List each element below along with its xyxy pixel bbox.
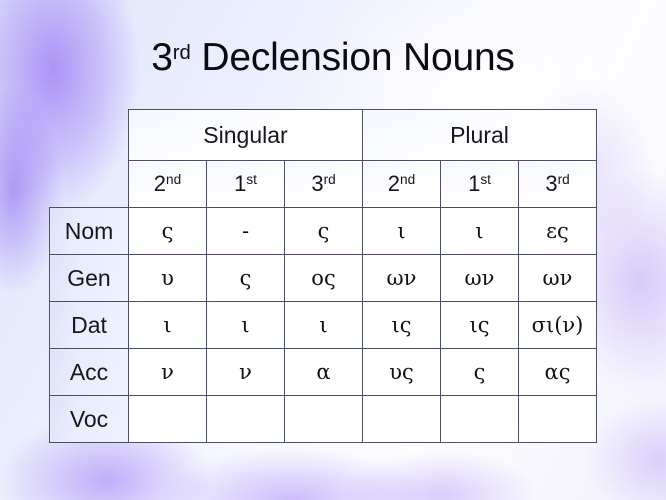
- cell-acc-singular-3rd: α: [285, 349, 363, 396]
- cell-acc-singular-1st: ν: [207, 349, 285, 396]
- cell-voc-singular-3rd: [285, 396, 363, 443]
- cell-gen-singular-3rd: ος: [285, 255, 363, 302]
- row-label-acc: Acc: [50, 349, 129, 396]
- title-text: Declension Nouns: [191, 36, 515, 79]
- col-ord: st: [246, 172, 257, 187]
- column-header-plural-3rd: 3rd: [519, 161, 597, 208]
- title-number: 3: [151, 36, 173, 79]
- col-ord: st: [480, 172, 491, 187]
- table-corner-spacer-2: [50, 161, 129, 208]
- cell-voc-plural-1st: [441, 396, 519, 443]
- table-row-nom: Nom ς - ς ι ι ες: [50, 208, 597, 255]
- table-corner-spacer: [50, 110, 129, 161]
- cell-nom-plural-3rd: ες: [519, 208, 597, 255]
- row-label-nom: Nom: [50, 208, 129, 255]
- cell-nom-singular-1st: -: [207, 208, 285, 255]
- table-column-header-row: 2nd 1st 3rd 2nd 1st 3rd: [50, 161, 597, 208]
- col-num: 3: [311, 171, 323, 196]
- cell-gen-plural-1st: ων: [441, 255, 519, 302]
- col-ord: rd: [558, 172, 570, 187]
- table-row-voc: Voc: [50, 396, 597, 443]
- row-label-gen: Gen: [50, 255, 129, 302]
- cell-dat-singular-2nd: ι: [129, 302, 207, 349]
- column-header-singular-1st: 1st: [207, 161, 285, 208]
- cell-dat-plural-1st: ις: [441, 302, 519, 349]
- table-group-header-row: Singular Plural: [50, 110, 597, 161]
- table-row-gen: Gen υ ς ος ων ων ων: [50, 255, 597, 302]
- col-num: 1: [234, 171, 246, 196]
- col-num: 2: [154, 171, 166, 196]
- cell-gen-plural-2nd: ων: [363, 255, 441, 302]
- cell-voc-singular-2nd: [129, 396, 207, 443]
- cell-nom-plural-2nd: ι: [363, 208, 441, 255]
- cell-acc-plural-3rd: ας: [519, 349, 597, 396]
- cell-dat-singular-3rd: ι: [285, 302, 363, 349]
- cell-dat-singular-1st: ι: [207, 302, 285, 349]
- col-num: 1: [468, 171, 480, 196]
- row-label-dat: Dat: [50, 302, 129, 349]
- cell-acc-singular-2nd: ν: [129, 349, 207, 396]
- group-header-singular: Singular: [129, 110, 363, 161]
- col-ord: nd: [400, 172, 415, 187]
- column-header-plural-2nd: 2nd: [363, 161, 441, 208]
- cell-voc-singular-1st: [207, 396, 285, 443]
- col-num: 2: [388, 171, 400, 196]
- declension-table: Singular Plural 2nd 1st 3rd 2nd 1st 3rd …: [49, 109, 597, 443]
- cell-dat-plural-2nd: ις: [363, 302, 441, 349]
- title-ordinal-suffix: rd: [173, 42, 191, 64]
- cell-nom-singular-3rd: ς: [285, 208, 363, 255]
- cell-acc-plural-1st: ς: [441, 349, 519, 396]
- cell-voc-plural-3rd: [519, 396, 597, 443]
- col-num: 3: [545, 171, 557, 196]
- table-row-dat: Dat ι ι ι ις ις σι(ν): [50, 302, 597, 349]
- cell-gen-plural-3rd: ων: [519, 255, 597, 302]
- cell-acc-plural-2nd: υς: [363, 349, 441, 396]
- column-header-singular-2nd: 2nd: [129, 161, 207, 208]
- cell-nom-plural-1st: ι: [441, 208, 519, 255]
- cell-voc-plural-2nd: [363, 396, 441, 443]
- row-label-voc: Voc: [50, 396, 129, 443]
- col-ord: rd: [324, 172, 336, 187]
- cell-gen-singular-2nd: υ: [129, 255, 207, 302]
- cell-nom-singular-2nd: ς: [129, 208, 207, 255]
- table-row-acc: Acc ν ν α υς ς ας: [50, 349, 597, 396]
- group-header-plural: Plural: [363, 110, 597, 161]
- column-header-singular-3rd: 3rd: [285, 161, 363, 208]
- cell-gen-singular-1st: ς: [207, 255, 285, 302]
- cell-dat-plural-3rd: σι(ν): [519, 302, 597, 349]
- col-ord: nd: [166, 172, 181, 187]
- page-title: 3rd Declension Nouns: [0, 38, 666, 77]
- column-header-plural-1st: 1st: [441, 161, 519, 208]
